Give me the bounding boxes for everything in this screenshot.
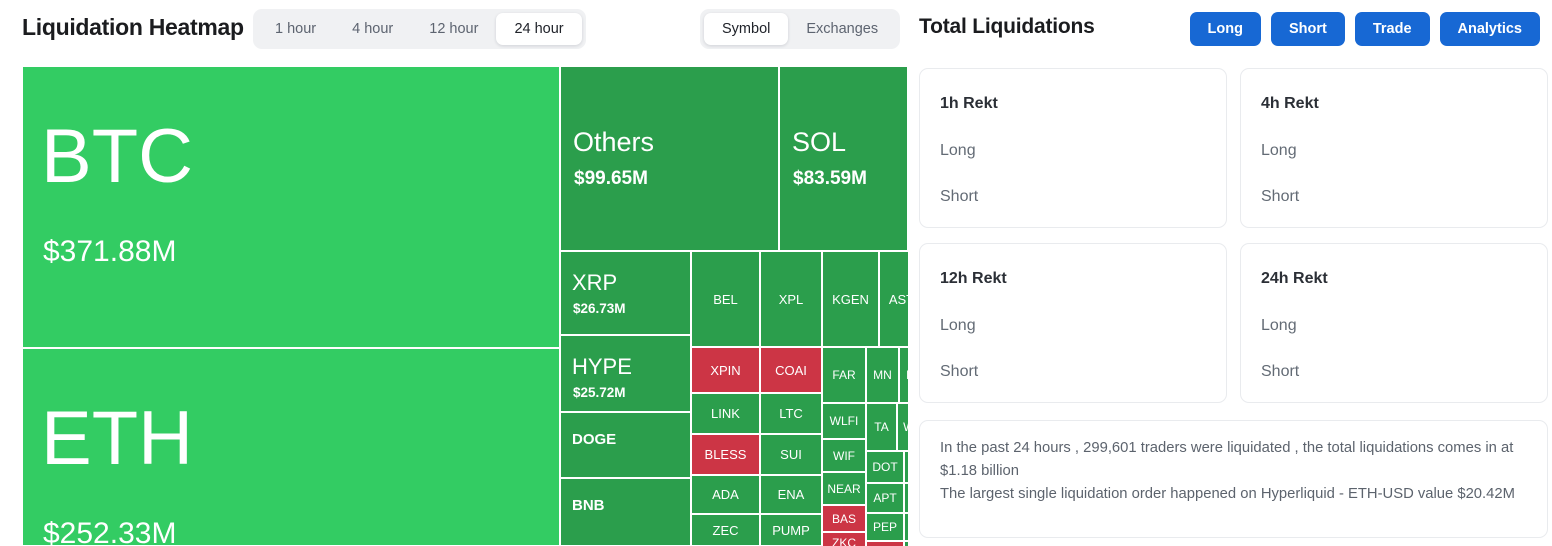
treemap-tile[interactable]: SOL$83.59M — [779, 66, 908, 251]
treemap-tile[interactable]: PUMP — [760, 514, 822, 546]
treemap-tile[interactable]: ADA — [691, 475, 760, 514]
treemap-tile-symbol: AST — [889, 293, 908, 306]
treemap-tile[interactable]: BAS — [822, 505, 866, 532]
treemap-tile[interactable]: BEL — [691, 251, 760, 347]
treemap-tile-symbol: DOT — [872, 461, 897, 473]
stat-card: 12h RektLongShort — [919, 243, 1227, 403]
treemap-tile-value: $99.65M — [574, 169, 648, 188]
timeframe-option-2[interactable]: 12 hour — [411, 13, 496, 45]
rekt-period-label: 12h Rekt — [940, 270, 1007, 288]
treemap-tile-symbol: DOGE — [572, 432, 616, 447]
treemap-tile[interactable]: T — [904, 483, 908, 513]
long-label: Long — [1261, 317, 1297, 335]
treemap-tile[interactable]: ZEC — [691, 514, 760, 546]
treemap-tile-value: $83.59M — [793, 169, 867, 188]
liquidation-heatmap-page: Liquidation Heatmap 1 hour4 hour12 hour2… — [0, 0, 1552, 546]
long-label: Long — [940, 142, 976, 160]
treemap-tile[interactable]: FI — [899, 347, 908, 403]
page-title: Liquidation Heatmap — [22, 14, 244, 41]
short-label: Short — [940, 188, 978, 206]
treemap-tile[interactable]: FAR — [822, 347, 866, 403]
treemap-tile-symbol: ENA — [778, 488, 805, 501]
treemap-tile-symbol: BTC — [41, 119, 193, 195]
treemap-tile[interactable]: B — [904, 541, 908, 546]
treemap-tile-symbol: WLFI — [830, 415, 859, 427]
treemap-tile[interactable]: XRP$26.73M — [560, 251, 691, 335]
treemap-tile[interactable]: DOGE — [560, 412, 691, 478]
treemap-tile-symbol: FAR — [832, 369, 855, 381]
long-label: Long — [1261, 142, 1297, 160]
treemap-tile-symbol: APT — [873, 492, 896, 504]
treemap-tile-symbol: XPIN — [710, 364, 740, 377]
liquidation-treemap[interactable]: BTC$371.88METH$252.33MOthers$99.65MSOL$8… — [22, 66, 908, 546]
treemap-tile-symbol: NEAR — [827, 483, 860, 495]
treemap-tile-symbol: HYPE — [572, 356, 632, 378]
stat-card: 24h RektLongShort — [1240, 243, 1548, 403]
long-button[interactable]: Long — [1190, 12, 1261, 46]
stat-row: 12h Rekt — [920, 270, 1226, 288]
rekt-period-label: 4h Rekt — [1261, 95, 1319, 113]
treemap-tile[interactable]: ETH$252.33M — [22, 348, 560, 546]
rekt-period-label: 24h Rekt — [1261, 270, 1328, 288]
treemap-tile[interactable]: AST — [879, 251, 908, 347]
treemap-tile[interactable]: KGEN — [822, 251, 879, 347]
treemap-tile-symbol: Others — [573, 129, 654, 156]
summary-line-1: In the past 24 hours , 299,601 traders w… — [940, 437, 1527, 483]
grouping-mode-selector[interactable]: SymbolExchanges — [700, 9, 900, 49]
treemap-tile-symbol: XRP — [572, 272, 617, 294]
treemap-tile-symbol: LTC — [779, 407, 803, 420]
stat-row: Short — [920, 188, 1226, 206]
stat-row: Long — [920, 142, 1226, 160]
treemap-tile-symbol: BEL — [713, 293, 738, 306]
action-button-row: LongShortTradeAnalytics — [1190, 12, 1540, 46]
treemap-tile[interactable]: HYPE$25.72M — [560, 335, 691, 412]
treemap-tile[interactable]: XPL — [760, 251, 822, 347]
treemap-tile[interactable]: ZKC — [822, 532, 866, 546]
treemap-tile-symbol: PEP — [873, 521, 897, 533]
timeframe-option-1[interactable]: 4 hour — [334, 13, 411, 45]
timeframe-option-0[interactable]: 1 hour — [257, 13, 334, 45]
treemap-tile-symbol: BNB — [572, 498, 605, 513]
stat-row: Short — [920, 363, 1226, 381]
grouping-option-1[interactable]: Exchanges — [788, 13, 896, 45]
summary-line-2: The largest single liquidation order hap… — [940, 483, 1527, 506]
treemap-tile-symbol: MN — [873, 369, 892, 381]
treemap-tile-symbol: ZKC — [832, 537, 856, 546]
summary-card: In the past 24 hours , 299,601 traders w… — [919, 420, 1548, 538]
treemap-tile-symbol: XPL — [779, 293, 804, 306]
treemap-tile-symbol: KGEN — [832, 293, 869, 306]
long-label: Long — [940, 317, 976, 335]
treemap-tile-symbol: TA — [874, 421, 888, 433]
treemap-tile[interactable]: ENA — [760, 475, 822, 514]
treemap-tile-symbol: BAS — [832, 513, 856, 525]
stat-row: Long — [1241, 142, 1547, 160]
treemap-tile-symbol: WI — [903, 421, 908, 433]
stat-row: Long — [920, 317, 1226, 335]
treemap-tile-symbol: BLESS — [705, 448, 747, 461]
analytics-button[interactable]: Analytics — [1440, 12, 1540, 46]
grouping-option-0[interactable]: Symbol — [704, 13, 788, 45]
treemap-tile[interactable]: WIF — [822, 439, 866, 472]
treemap-tile[interactable]: Y — [904, 513, 908, 541]
treemap-tile-symbol: PUMP — [772, 524, 810, 537]
treemap-tile-symbol: ZEC — [713, 524, 739, 537]
treemap-tile[interactable]: TA — [866, 403, 897, 451]
treemap-tile-symbol: SOL — [792, 129, 846, 156]
treemap-tile-value: $25.72M — [573, 386, 626, 400]
stat-row: 24h Rekt — [1241, 270, 1547, 288]
treemap-tile-symbol: WIF — [833, 450, 855, 462]
treemap-tile[interactable]: NEAR — [822, 472, 866, 505]
treemap-tile-symbol: SUI — [780, 448, 802, 461]
treemap-tile-symbol: FI — [906, 369, 908, 381]
stat-row: 1h Rekt — [920, 95, 1226, 113]
stat-row: 4h Rekt — [1241, 95, 1547, 113]
stat-row: Long — [1241, 317, 1547, 335]
treemap-tile[interactable]: PEP — [866, 513, 904, 541]
treemap-tile-value: $371.88M — [43, 237, 176, 267]
stat-card: 1h RektLongShort — [919, 68, 1227, 228]
stat-row: Short — [1241, 363, 1547, 381]
treemap-tile-symbol: ETH — [41, 401, 193, 477]
treemap-tile[interactable]: SUI — [760, 434, 822, 475]
timeframe-selector[interactable]: 1 hour4 hour12 hour24 hour — [253, 9, 586, 49]
treemap-tile-symbol: LINK — [711, 407, 740, 420]
rekt-period-label: 1h Rekt — [940, 95, 998, 113]
treemap-tile[interactable]: O — [904, 451, 908, 483]
treemap-tile[interactable]: XPIN — [691, 347, 760, 393]
short-button[interactable]: Short — [1271, 12, 1345, 46]
treemap-tile[interactable]: COAI — [760, 347, 822, 393]
treemap-tile-value: $26.73M — [573, 302, 626, 316]
treemap-tile[interactable]: MN — [866, 347, 899, 403]
treemap-tile-symbol: ADA — [712, 488, 739, 501]
total-liquidations-title: Total Liquidations — [919, 15, 1095, 39]
treemap-tile[interactable]: BTC$371.88M — [22, 66, 560, 348]
short-label: Short — [1261, 363, 1299, 381]
treemap-tile[interactable]: LINK — [691, 393, 760, 434]
treemap-tile[interactable]: WLFI — [822, 403, 866, 439]
stat-card: 4h RektLongShort — [1240, 68, 1548, 228]
treemap-tile[interactable]: BLESS — [691, 434, 760, 475]
short-label: Short — [1261, 188, 1299, 206]
treemap-tile[interactable]: APT — [866, 483, 904, 513]
treemap-tile[interactable]: BNB — [560, 478, 691, 546]
treemap-tile[interactable]: XAU — [866, 541, 904, 546]
treemap-tile[interactable]: DOT — [866, 451, 904, 483]
stat-row: Short — [1241, 188, 1547, 206]
treemap-tile-value: $252.33M — [43, 519, 176, 546]
top-toolbar: Liquidation Heatmap 1 hour4 hour12 hour2… — [0, 0, 1552, 58]
short-label: Short — [940, 363, 978, 381]
treemap-tile[interactable]: Others$99.65M — [560, 66, 779, 251]
treemap-tile[interactable]: WI — [897, 403, 908, 451]
treemap-tile[interactable]: LTC — [760, 393, 822, 434]
timeframe-option-3[interactable]: 24 hour — [496, 13, 581, 45]
trade-button[interactable]: Trade — [1355, 12, 1430, 46]
treemap-tile-symbol: COAI — [775, 364, 807, 377]
